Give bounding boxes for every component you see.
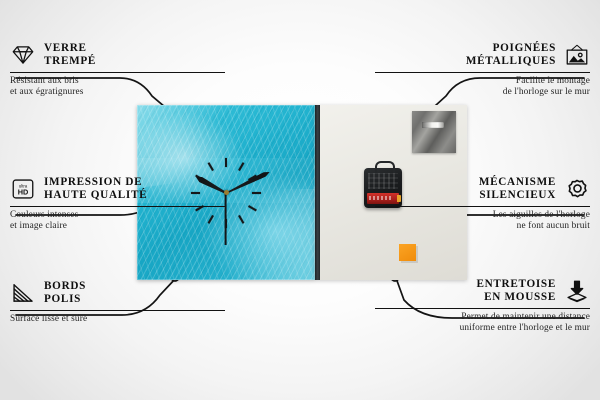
feature-rule — [375, 206, 590, 207]
feature-header: MÉCANISMESILENCIEUX — [375, 176, 590, 203]
metal-hanger-bracket — [412, 111, 456, 153]
feature-subtitle: Surface lisse et sûre — [10, 314, 225, 325]
feature-header: POIGNÉESMÉTALLIQUES — [375, 42, 590, 69]
feature-poignees-metalliques: POIGNÉESMÉTALLIQUES Facilite le montaged… — [375, 42, 590, 99]
feature-header: BORDSPOLIS — [10, 280, 225, 307]
polished-edge-icon — [10, 280, 36, 306]
feature-entretoise-en-mousse: ENTRETOISEEN MOUSSE Permet de maintenir … — [375, 278, 590, 335]
wall-hanging-frame-icon — [564, 42, 590, 68]
feature-impression-haute-qualite: ultra HD IMPRESSION DEHAUTE QUALITÉ Coul… — [10, 176, 225, 233]
ultra-hd-icon: ultra HD — [10, 176, 36, 202]
feature-title: POIGNÉESMÉTALLIQUES — [466, 42, 556, 69]
hanger-slot — [422, 122, 444, 128]
feature-subtitle: Couleurs intenseset image claire — [10, 210, 225, 233]
feature-rule — [10, 310, 225, 311]
infographic-canvas: VERRETREMPÉ Résistant aux briset aux égr… — [0, 0, 600, 400]
feature-subtitle: Facilite le montagede l'horloge sur le m… — [375, 76, 590, 99]
foam-spacer-icon — [564, 278, 590, 304]
feature-verre-trempe: VERRETREMPÉ Résistant aux briset aux égr… — [10, 42, 225, 99]
feature-bords-polis: BORDSPOLIS Surface lisse et sûre — [10, 280, 225, 325]
feature-rule — [375, 308, 590, 309]
feature-title: IMPRESSION DEHAUTE QUALITÉ — [44, 176, 147, 203]
svg-text:HD: HD — [18, 188, 29, 197]
mechanism-hook — [375, 161, 395, 173]
diamond-icon — [10, 42, 36, 68]
feature-subtitle: Permet de maintenir une distanceuniforme… — [375, 312, 590, 335]
feature-title: VERRETREMPÉ — [44, 42, 96, 69]
feature-rule — [10, 206, 225, 207]
feature-rule — [375, 72, 590, 73]
feature-title: MÉCANISMESILENCIEUX — [479, 176, 556, 203]
feature-title: BORDSPOLIS — [44, 280, 86, 307]
feature-subtitle: Les aiguilles de l'horlogene font aucun … — [375, 210, 590, 233]
feature-rule — [10, 72, 225, 73]
feature-subtitle: Résistant aux briset aux égratignures — [10, 76, 225, 99]
feature-mecanisme-silencieux: MÉCANISMESILENCIEUX Les aiguilles de l'h… — [375, 176, 590, 233]
feature-header: VERRETREMPÉ — [10, 42, 225, 69]
feature-title: ENTRETOISEEN MOUSSE — [476, 278, 556, 305]
foam-spacer-pad — [399, 244, 416, 261]
feature-header: ENTRETOISEEN MOUSSE — [375, 278, 590, 305]
panel-side-edge — [315, 105, 320, 280]
feature-header: ultra HD IMPRESSION DEHAUTE QUALITÉ — [10, 176, 225, 203]
gear-icon — [564, 176, 590, 202]
